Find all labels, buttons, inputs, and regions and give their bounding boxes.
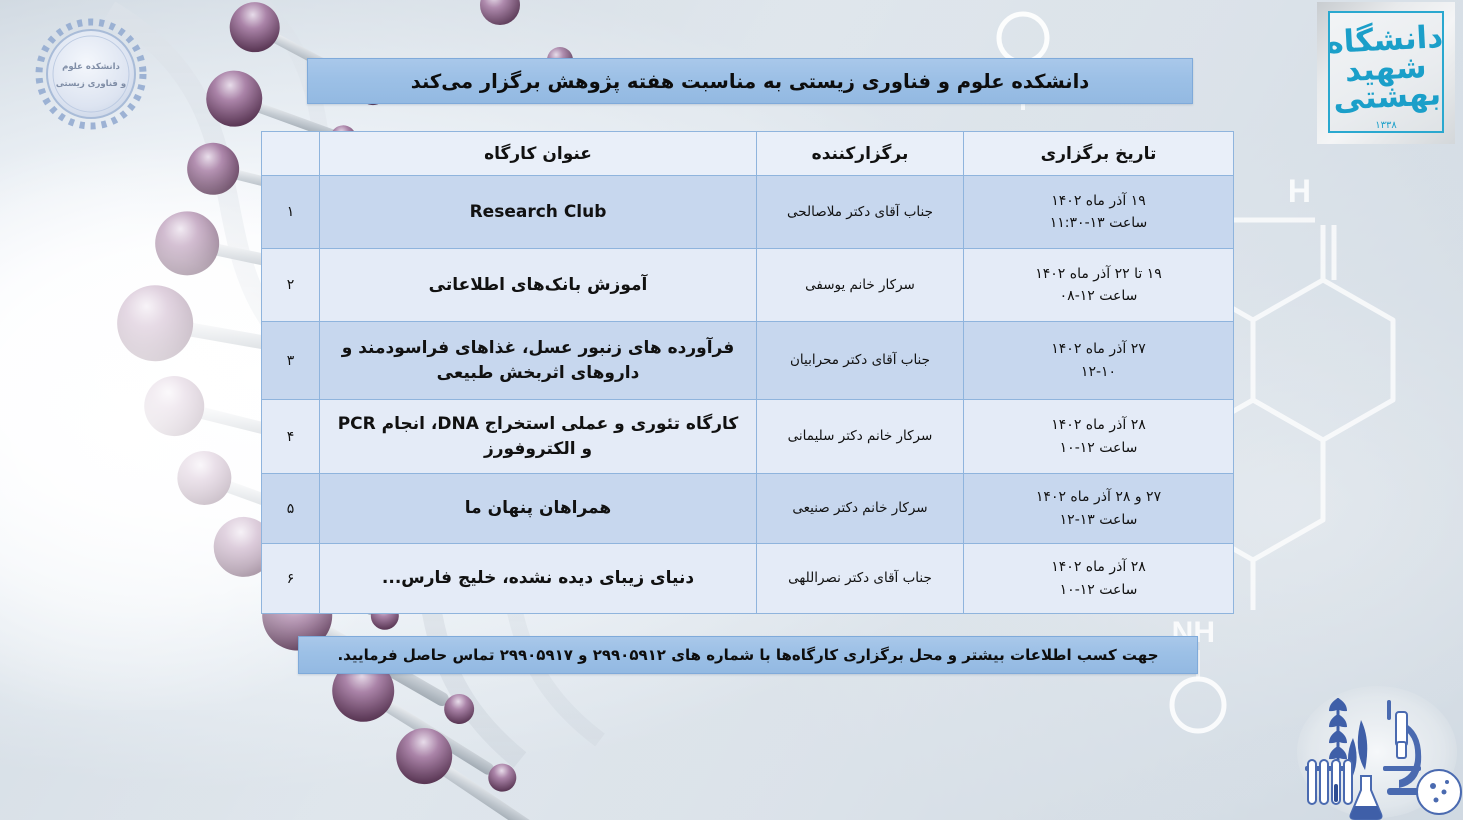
faculty-seal-logo: دانشکده علوم و فناوری زیستی <box>18 14 164 138</box>
date-line-1: ۲۸ آذر ماه ۱۴۰۲ <box>974 556 1223 578</box>
cell-index: ۳ <box>262 322 320 400</box>
cell-date: ۲۷ و ۲۸ آذر ماه ۱۴۰۲ ساعت ۱۳-۱۲ <box>964 474 1234 544</box>
cell-title: آموزش بانک‌های اطلاعاتی <box>320 249 757 322</box>
date-line-1: ۲۷ و ۲۸ آذر ماه ۱۴۰۲ <box>974 486 1223 508</box>
cell-index: ۱ <box>262 176 320 249</box>
poster-canvas: CH 3 H NH دانشکده علوم و فناوری زیستی <box>0 0 1463 820</box>
date-line-2: ساعت ۱۲-۱۰ <box>974 579 1223 601</box>
cell-index: ۴ <box>262 400 320 474</box>
faculty-seal-line1: دانشکده علوم <box>62 62 120 73</box>
faculty-seal-line2: و فناوری زیستی <box>56 79 126 90</box>
workshop-schedule: تاریخ برگزاری برگزارکننده عنوان کارگاه ۱… <box>262 131 1234 614</box>
date-line-2: ساعت ۱۳-۱۱:۳۰ <box>974 212 1223 234</box>
table-row: ۲۸ آذر ماه ۱۴۰۲ ساعت ۱۲-۱۰ سرکار خانم دک… <box>262 400 1234 474</box>
university-logo-year: ۱۳۳۸ <box>1317 120 1455 131</box>
date-line-1: ۲۷ آذر ماه ۱۴۰۲ <box>974 338 1223 360</box>
cell-organizer: سرکار خانم دکتر صنیعی <box>757 474 964 544</box>
footer-banner-text: جهت کسب اطلاعات بیشتر و محل برگزاری کارگ… <box>337 646 1158 664</box>
column-header-index <box>262 132 320 176</box>
column-header-date: تاریخ برگزاری <box>964 132 1234 176</box>
university-logo-calligraphy: دانشگاه شهید بهشتی <box>1328 23 1444 121</box>
table-row: ۲۸ آذر ماه ۱۴۰۲ ساعت ۱۲-۱۰ جناب آقای دکت… <box>262 544 1234 614</box>
cell-title: دنیای زیبای دیده نشده، خلیج فارس... <box>320 544 757 614</box>
column-header-organizer: برگزارکننده <box>757 132 964 176</box>
cell-date: ۲۷ آذر ماه ۱۴۰۲ ۱۲-۱۰ <box>964 322 1234 400</box>
cell-index: ۲ <box>262 249 320 322</box>
cell-title: Research Club <box>320 176 757 249</box>
cell-date: ۱۹ آذر ماه ۱۴۰۲ ساعت ۱۳-۱۱:۳۰ <box>964 176 1234 249</box>
university-logo: دانشگاه شهید بهشتی ۱۳۳۸ <box>1317 2 1455 144</box>
table-row: ۱۹ آذر ماه ۱۴۰۲ ساعت ۱۳-۱۱:۳۰ جناب آقای … <box>262 176 1234 249</box>
cell-date: ۱۹ تا ۲۲ آذر ماه ۱۴۰۲ ساعت ۱۲-۰۸ <box>964 249 1234 322</box>
table-row: ۱۹ تا ۲۲ آذر ماه ۱۴۰۲ ساعت ۱۲-۰۸ سرکار خ… <box>262 249 1234 322</box>
cell-organizer: سرکار خانم دکتر سلیمانی <box>757 400 964 474</box>
cell-title: فرآورده های زنبور عسل، غذاهای فراسودمند … <box>320 322 757 400</box>
cell-index: ۶ <box>262 544 320 614</box>
cell-organizer: سرکار خانم یوسفی <box>757 249 964 322</box>
schedule-table: تاریخ برگزاری برگزارکننده عنوان کارگاه ۱… <box>261 131 1234 614</box>
university-logo-frame: دانشگاه شهید بهشتی <box>1328 11 1444 133</box>
microscope-plant-testtubes-icon <box>1291 680 1463 820</box>
table-row: ۲۷ و ۲۸ آذر ماه ۱۴۰۲ ساعت ۱۳-۱۲ سرکار خا… <box>262 474 1234 544</box>
header-banner-text: دانشکده علوم و فناوری زیستی به مناسبت هف… <box>411 70 1090 93</box>
column-header-title: عنوان کارگاه <box>320 132 757 176</box>
date-line-2: ساعت ۱۲-۰۸ <box>974 285 1223 307</box>
cell-date: ۲۸ آذر ماه ۱۴۰۲ ساعت ۱۲-۱۰ <box>964 544 1234 614</box>
date-line-1: ۱۹ آذر ماه ۱۴۰۲ <box>974 190 1223 212</box>
date-line-2: ۱۲-۱۰ <box>974 361 1223 383</box>
footer-contact-banner: جهت کسب اطلاعات بیشتر و محل برگزاری کارگ… <box>298 636 1198 674</box>
cell-organizer: جناب آقای دکتر نصراللهی <box>757 544 964 614</box>
header-banner: دانشکده علوم و فناوری زیستی به مناسبت هف… <box>307 58 1193 104</box>
table-row: ۲۷ آذر ماه ۱۴۰۲ ۱۲-۱۰ جناب آقای دکتر محر… <box>262 322 1234 400</box>
date-line-1: ۲۸ آذر ماه ۱۴۰۲ <box>974 414 1223 436</box>
cell-title: کارگاه تئوری و عملی استخراج DNA، انجام P… <box>320 400 757 474</box>
cell-date: ۲۸ آذر ماه ۱۴۰۲ ساعت ۱۲-۱۰ <box>964 400 1234 474</box>
cell-title: همراهان پنهان ما <box>320 474 757 544</box>
date-line-1: ۱۹ تا ۲۲ آذر ماه ۱۴۰۲ <box>974 263 1223 285</box>
svg-text:H: H <box>1288 173 1311 209</box>
cell-organizer: جناب آقای دکتر محرابیان <box>757 322 964 400</box>
date-line-2: ساعت ۱۳-۱۲ <box>974 509 1223 531</box>
date-line-2: ساعت ۱۲-۱۰ <box>974 437 1223 459</box>
cell-organizer: جناب آقای دکتر ملاصالحی <box>757 176 964 249</box>
table-header-row: تاریخ برگزاری برگزارکننده عنوان کارگاه <box>262 132 1234 176</box>
cell-index: ۵ <box>262 474 320 544</box>
